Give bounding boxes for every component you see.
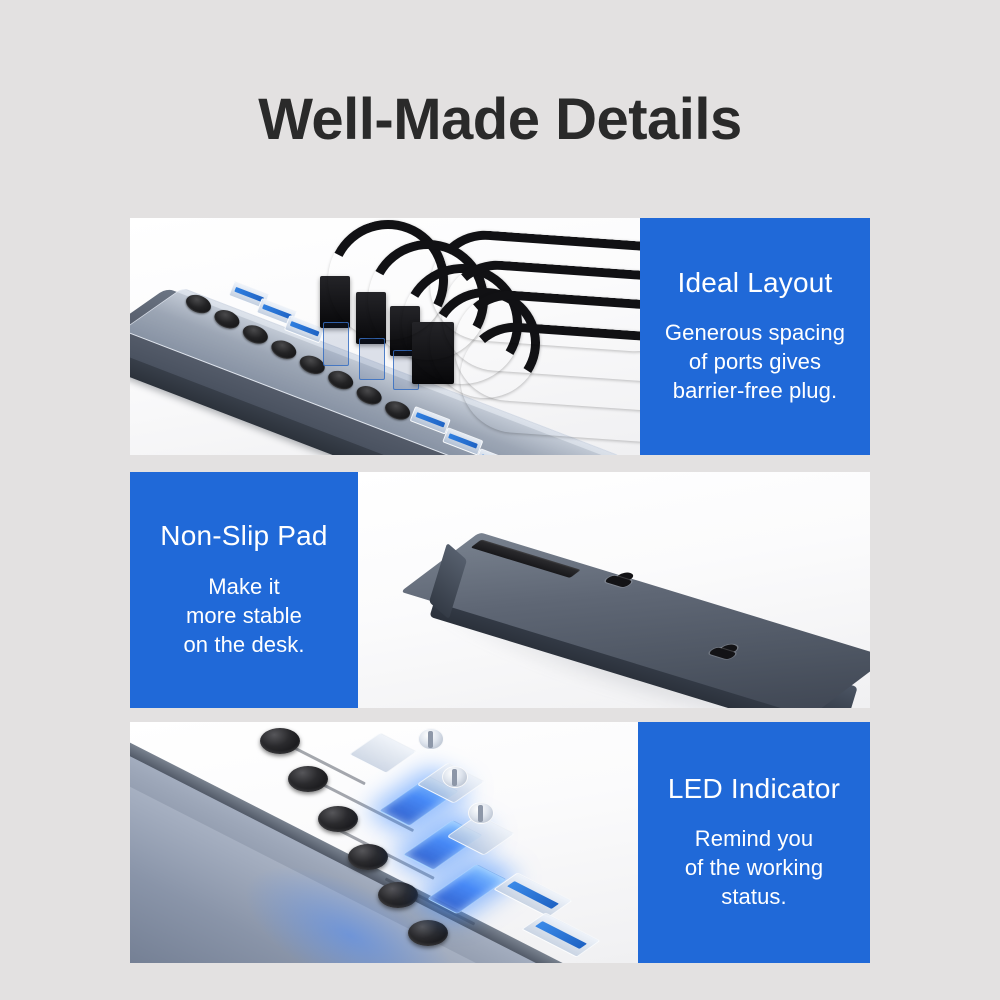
feature-panel-ideal-layout: Ideal Layout Generous spacing of ports g… [130,218,870,455]
feature-caption-ideal-layout: Ideal Layout Generous spacing of ports g… [640,218,870,455]
hub-button [378,882,418,908]
hub-button [260,728,300,754]
hub-button [318,806,358,832]
hub-button [325,367,355,392]
caption-body: Generous spacing of ports gives barrier-… [665,318,845,405]
caption-body-line: status. [685,882,823,911]
usb-hub-with-cables-illustration [130,218,640,455]
caption-body-line: barrier-free plug. [665,376,845,405]
caption-body-line: Remind you [685,824,823,853]
usb-port [410,406,451,435]
caption-body: Remind you of the working status. [685,824,823,911]
usb-plug-shell-edge [359,338,385,380]
feature-panel-non-slip-pad: Non-Slip Pad Make it more stable on the … [130,472,870,708]
product-photo-ideal-layout [130,218,640,455]
feature-caption-led-indicator: LED Indicator Remind you of the working … [638,722,870,963]
caption-body: Make it more stable on the desk. [183,572,304,659]
hub-button [382,398,412,423]
caption-body-line: more stable [183,601,304,630]
caption-heading: LED Indicator [668,774,840,805]
hub-button [212,307,242,332]
page-title: Well-Made Details [0,88,1000,152]
usb-port [475,448,516,455]
feature-panel-led-indicator: LED Indicator Remind you of the working … [130,722,870,963]
caption-heading: Non-Slip Pad [160,521,327,552]
screw-head [418,728,444,750]
feature-caption-non-slip-pad: Non-Slip Pad Make it more stable on the … [130,472,358,708]
hub-button [269,337,299,362]
caption-body-line: Make it [183,572,304,601]
usb-port [442,427,483,455]
hub-button [240,322,270,347]
usb-hub-underside-illustration [358,472,870,708]
caption-body-line: of ports gives [665,347,845,376]
usb-hub-led-closeup-illustration [130,722,638,963]
screw-head [442,766,468,788]
product-photo-led-indicator [130,722,638,963]
hub-button [288,766,328,792]
clear-component-block [349,732,418,773]
hub-button [354,383,384,408]
hub-button [183,291,213,316]
usb-plug-shell-edge [323,322,349,366]
caption-body-line: on the desk. [183,630,304,659]
screw-head [468,802,494,824]
caption-body-line: Generous spacing [665,318,845,347]
caption-heading: Ideal Layout [678,268,833,299]
product-photo-non-slip-pad [358,472,870,708]
hub-button [408,920,448,946]
hub-button [348,844,388,870]
caption-body-line: of the working [685,853,823,882]
usb-port [284,315,325,344]
